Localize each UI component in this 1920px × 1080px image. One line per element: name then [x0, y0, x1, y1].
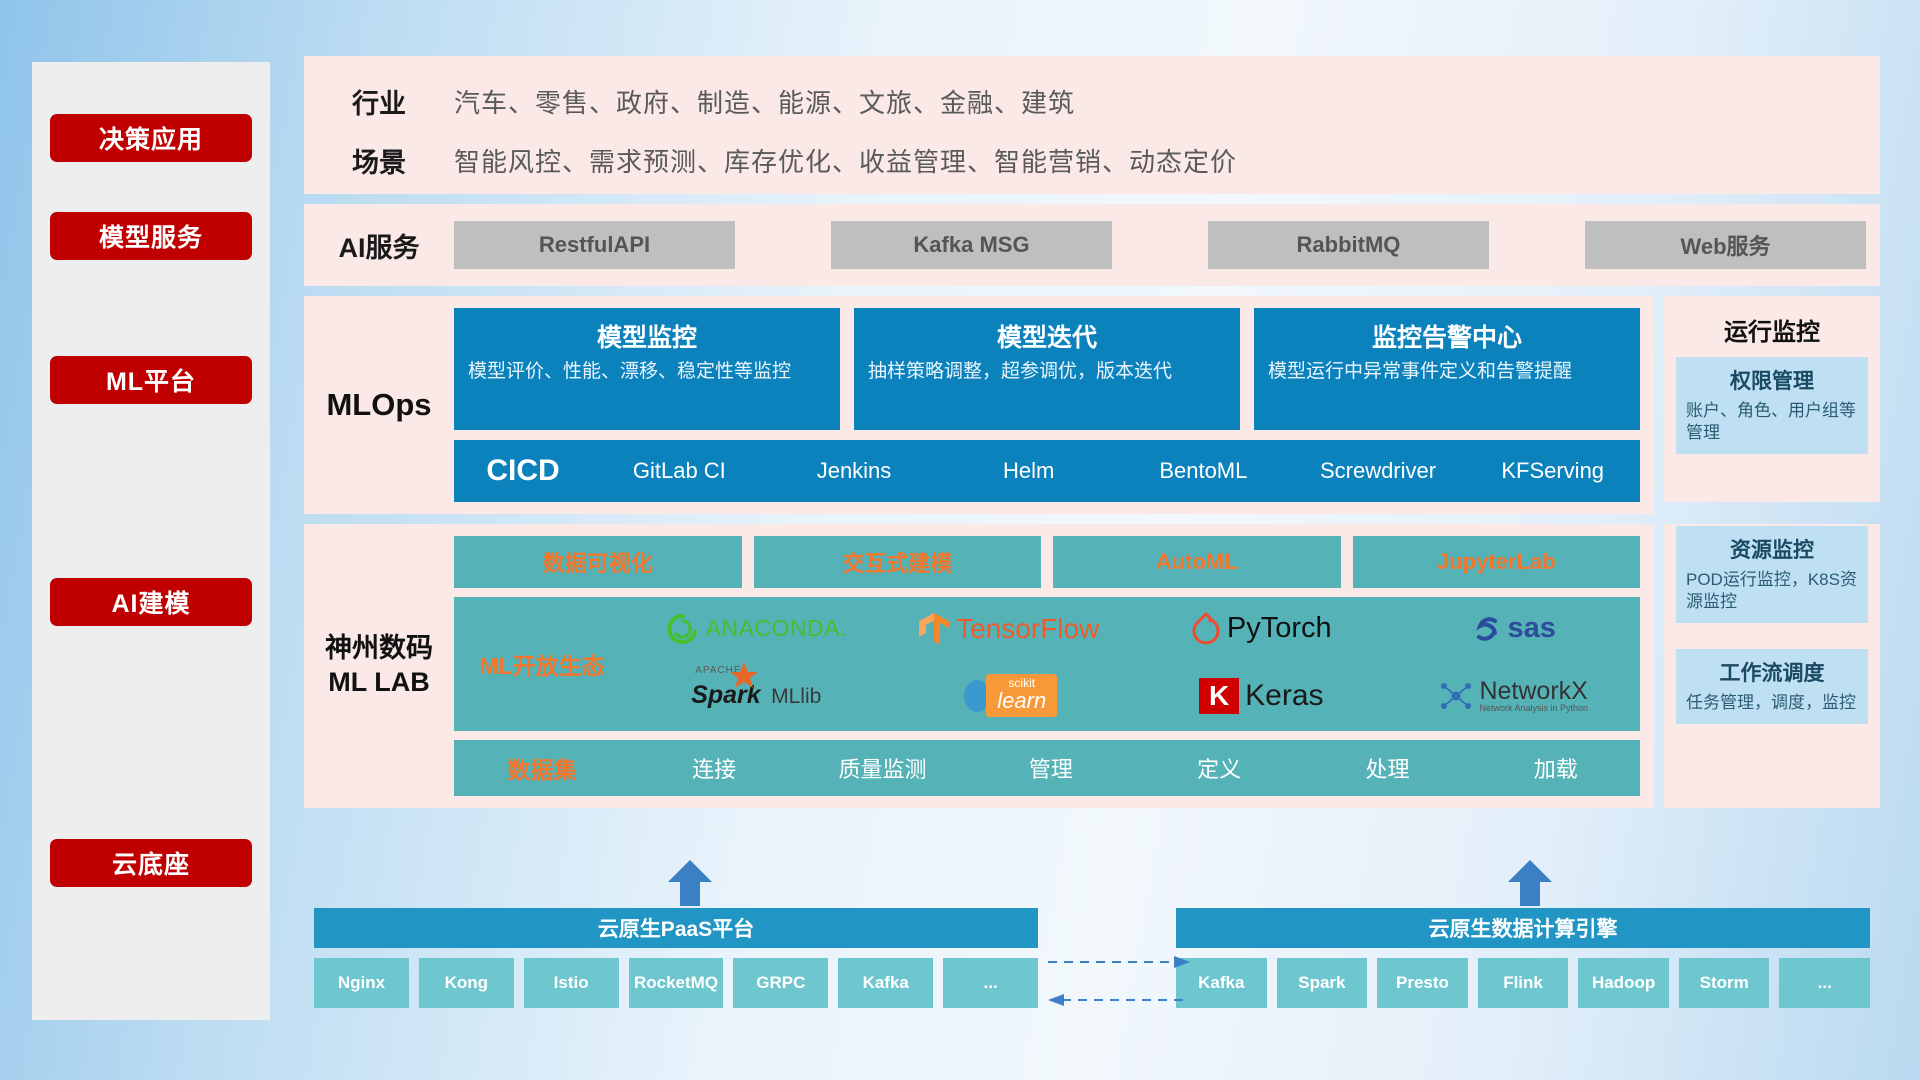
- dataset-item-process[interactable]: 处理: [1303, 752, 1471, 784]
- rail-label: AI建模: [111, 584, 190, 620]
- ml-lab-band: 神州数码 ML LAB 数据可视化 交互式建模 AutoML JupyterLa…: [304, 524, 1654, 808]
- anaconda-wordmark: ANACONDA.: [706, 615, 847, 642]
- learn-text: learn: [997, 689, 1046, 712]
- service-kafka-msg[interactable]: Kafka MSG: [831, 221, 1112, 269]
- card-desc: 抽样策略调整，超参调优，版本迭代: [868, 360, 1226, 384]
- rail-item-ml-platform[interactable]: ML平台: [50, 356, 252, 404]
- cloud-paas-bar[interactable]: 云原生PaaS平台: [314, 908, 1038, 948]
- scikit-learn-badge: scikit learn: [986, 674, 1057, 717]
- keras-wordmark: Keras: [1245, 679, 1323, 713]
- rail-label: 云底座: [112, 845, 190, 881]
- rail-item-cloud-base[interactable]: 云底座: [50, 839, 252, 887]
- scenario-value: 智能风控、需求预测、库存优化、收益管理、智能营销、动态定价: [454, 142, 1237, 179]
- arrow-up-right-icon: [1500, 860, 1560, 906]
- industry-key: 行业: [304, 82, 454, 121]
- layer-rail: 决策应用 模型服务 ML平台 AI建模 云底座: [32, 62, 270, 1020]
- pytorch-logo: PyTorch: [1135, 612, 1388, 646]
- cicd-item-gitlab-ci[interactable]: GitLab CI: [592, 459, 767, 482]
- ml-ecosystem-logos: ANACONDA. TensorFlow: [630, 597, 1640, 731]
- dataset-label: 数据集: [454, 751, 630, 785]
- mlops-key: MLOps: [304, 308, 454, 502]
- sas-wordmark: sas: [1508, 612, 1556, 645]
- mlops-card-model-iteration[interactable]: 模型迭代 抽样策略调整，超参调优，版本迭代: [854, 308, 1240, 430]
- pytorch-icon: [1191, 612, 1221, 646]
- chip-hadoop[interactable]: Hadoop: [1578, 958, 1669, 1008]
- rail-label: 模型服务: [99, 218, 203, 254]
- chip-more-left[interactable]: ...: [943, 958, 1038, 1008]
- ai-service-list: RestfulAPI Kafka MSG RabbitMQ Web服务: [454, 221, 1880, 269]
- pytorch-wordmark: PyTorch: [1227, 612, 1332, 645]
- chip-kafka[interactable]: Kafka: [838, 958, 933, 1008]
- ml-ecosystem-row: ML开放生态 ANACONDA.: [454, 597, 1640, 731]
- ml-lab-key: 神州数码 ML LAB: [304, 536, 454, 796]
- mllib-wordmark: MLlib: [771, 685, 821, 708]
- networkx-wordmark: NetworkX: [1479, 679, 1588, 704]
- compute-chip-list: Kafka Spark Presto Flink Hadoop Storm ..…: [1176, 958, 1870, 1008]
- dataset-item-quality[interactable]: 质量监测: [798, 752, 966, 784]
- tensorflow-logo: TensorFlow: [883, 611, 1136, 647]
- card-title: 监控告警中心: [1268, 318, 1626, 354]
- lab-row: 神州数码 ML LAB 数据可视化 交互式建模 AutoML JupyterLa…: [304, 524, 1880, 808]
- main-stack: 行业 汽车、零售、政府、制造、能源、文旅、金融、建筑 场景 智能风控、需求预测、…: [304, 56, 1880, 808]
- industry-scenario-band: 行业 汽车、零售、政府、制造、能源、文旅、金融、建筑 场景 智能风控、需求预测、…: [304, 56, 1880, 194]
- tool-jupyterlab[interactable]: JupyterLab: [1353, 536, 1641, 588]
- mlops-card-model-monitoring[interactable]: 模型监控 模型评价、性能、漂移、稳定性等监控: [454, 308, 840, 430]
- mon-card-title: 工作流调度: [1686, 657, 1858, 687]
- monitor-column-top: 运行监控 权限管理 账户、角色、用户组等管理: [1664, 296, 1880, 502]
- cicd-item-screwdriver[interactable]: Screwdriver: [1291, 459, 1466, 482]
- card-title: 模型迭代: [868, 318, 1226, 354]
- mon-card-title: 资源监控: [1686, 534, 1858, 564]
- dataset-row: 数据集 连接 质量监测 管理 定义 处理 加载: [454, 740, 1640, 796]
- service-web[interactable]: Web服务: [1585, 221, 1866, 269]
- dataset-item-load[interactable]: 加载: [1472, 752, 1640, 784]
- rail-label: 决策应用: [99, 120, 203, 156]
- dataset-item-manage[interactable]: 管理: [967, 752, 1135, 784]
- cicd-item-helm[interactable]: Helm: [941, 459, 1116, 482]
- chip-spark[interactable]: Spark: [1277, 958, 1368, 1008]
- sas-icon: [1472, 614, 1502, 644]
- spark-star-icon: [729, 661, 759, 689]
- chip-grpc[interactable]: GRPC: [733, 958, 828, 1008]
- mon-card-desc: 账户、角色、用户组等管理: [1686, 400, 1858, 444]
- chip-storm[interactable]: Storm: [1679, 958, 1770, 1008]
- spark-mllib-logo: APACHE Spark MLlib: [630, 681, 883, 710]
- monitor-column-bottom: 资源监控 POD运行监控，K8S资源监控 工作流调度 任务管理，调度，监控: [1664, 524, 1880, 808]
- chip-nginx[interactable]: Nginx: [314, 958, 409, 1008]
- card-desc: 模型评价、性能、漂移、稳定性等监控: [468, 360, 826, 384]
- rail-item-decision[interactable]: 决策应用: [50, 114, 252, 162]
- service-rabbitmq[interactable]: RabbitMQ: [1208, 221, 1489, 269]
- scikit-learn-logo: scikit learn: [883, 674, 1136, 717]
- anaconda-icon: [666, 612, 700, 646]
- cicd-item-bentoml[interactable]: BentoML: [1116, 459, 1291, 482]
- chip-presto[interactable]: Presto: [1377, 958, 1468, 1008]
- tool-data-visualization[interactable]: 数据可视化: [454, 536, 742, 588]
- mon-card-desc: 任务管理，调度，监控: [1686, 692, 1858, 714]
- industry-row: 行业 汽车、零售、政府、制造、能源、文旅、金融、建筑: [304, 78, 1880, 125]
- chip-rocketmq[interactable]: RocketMQ: [629, 958, 724, 1008]
- service-restfulapi[interactable]: RestfulAPI: [454, 221, 735, 269]
- ai-service-key: AI服务: [304, 226, 454, 265]
- chip-flink[interactable]: Flink: [1478, 958, 1569, 1008]
- networkx-graph-icon: [1439, 680, 1473, 712]
- dataset-item-connect[interactable]: 连接: [630, 752, 798, 784]
- cicd-item-kfserving[interactable]: KFServing: [1465, 459, 1640, 482]
- mon-card-desc: POD运行监控，K8S资源监控: [1686, 569, 1858, 613]
- mlops-row: MLOps 模型监控 模型评价、性能、漂移、稳定性等监控 模型迭代 抽样策略调整…: [304, 296, 1880, 514]
- cloud-compute-bar[interactable]: 云原生数据计算引擎: [1176, 908, 1870, 948]
- industry-value: 汽车、零售、政府、制造、能源、文旅、金融、建筑: [454, 83, 1075, 120]
- cicd-item-jenkins[interactable]: Jenkins: [767, 459, 942, 482]
- bidirectional-dashed-connector-icon: [1044, 950, 1194, 1020]
- scenario-key: 场景: [304, 141, 454, 180]
- ml-lab-key-line1: 神州数码: [325, 632, 433, 666]
- scenario-row: 场景 智能风控、需求预测、库存优化、收益管理、智能营销、动态定价: [304, 137, 1880, 184]
- dataset-item-define[interactable]: 定义: [1135, 752, 1303, 784]
- chip-more-right[interactable]: ...: [1779, 958, 1870, 1008]
- ml-ecosystem-label: ML开放生态: [454, 647, 630, 681]
- monitor-card-permission[interactable]: 权限管理 账户、角色、用户组等管理: [1676, 357, 1868, 454]
- mlops-cards: 模型监控 模型评价、性能、漂移、稳定性等监控 模型迭代 抽样策略调整，超参调优，…: [454, 308, 1640, 430]
- networkx-subtext: Network Analysis in Python: [1479, 704, 1588, 713]
- chip-istio[interactable]: Istio: [524, 958, 619, 1008]
- ml-lab-key-line2: ML LAB: [328, 666, 430, 700]
- monitor-title: 运行监控: [1676, 306, 1868, 357]
- cicd-row: CICD GitLab CI Jenkins Helm BentoML Scre…: [454, 440, 1640, 502]
- keras-k-icon: K: [1199, 678, 1239, 714]
- paas-chip-list: Nginx Kong Istio RocketMQ GRPC Kafka ...: [314, 958, 1038, 1008]
- networkx-logo: NetworkX Network Analysis in Python: [1388, 679, 1641, 713]
- cicd-label: CICD: [454, 454, 592, 488]
- keras-logo: K Keras: [1135, 678, 1388, 714]
- lab-tools: 数据可视化 交互式建模 AutoML JupyterLab: [454, 536, 1640, 588]
- cloud-base-section: 云原生PaaS平台 云原生数据计算引擎 Nginx Kong Istio Roc…: [304, 888, 1880, 1048]
- monitor-card-workflow[interactable]: 工作流调度 任务管理，调度，监控: [1676, 649, 1868, 724]
- tool-interactive-modeling[interactable]: 交互式建模: [754, 536, 1042, 588]
- chip-kong[interactable]: Kong: [419, 958, 514, 1008]
- anaconda-logo: ANACONDA.: [630, 612, 883, 646]
- rail-item-model-service[interactable]: 模型服务: [50, 212, 252, 260]
- rail-item-ai-modeling[interactable]: AI建模: [50, 578, 252, 626]
- tool-automl[interactable]: AutoML: [1053, 536, 1341, 588]
- rail-label: ML平台: [106, 362, 196, 398]
- arrow-up-left-icon: [660, 860, 720, 906]
- ai-service-band: AI服务 RestfulAPI Kafka MSG RabbitMQ Web服务: [304, 204, 1880, 286]
- tensorflow-wordmark: TensorFlow: [956, 613, 1099, 645]
- diagram-root: 决策应用 模型服务 ML平台 AI建模 云底座 行业 汽车、零售、政府、制造、能…: [0, 0, 1920, 1080]
- card-desc: 模型运行中异常事件定义和告警提醒: [1268, 360, 1626, 384]
- mlops-card-alert-center[interactable]: 监控告警中心 模型运行中异常事件定义和告警提醒: [1254, 308, 1640, 430]
- mlops-band: MLOps 模型监控 模型评价、性能、漂移、稳定性等监控 模型迭代 抽样策略调整…: [304, 296, 1654, 514]
- mon-card-title: 权限管理: [1686, 365, 1858, 395]
- card-title: 模型监控: [468, 318, 826, 354]
- sas-logo: sas: [1388, 612, 1641, 645]
- monitor-card-resource[interactable]: 资源监控 POD运行监控，K8S资源监控: [1676, 526, 1868, 623]
- tensorflow-icon: [918, 611, 950, 647]
